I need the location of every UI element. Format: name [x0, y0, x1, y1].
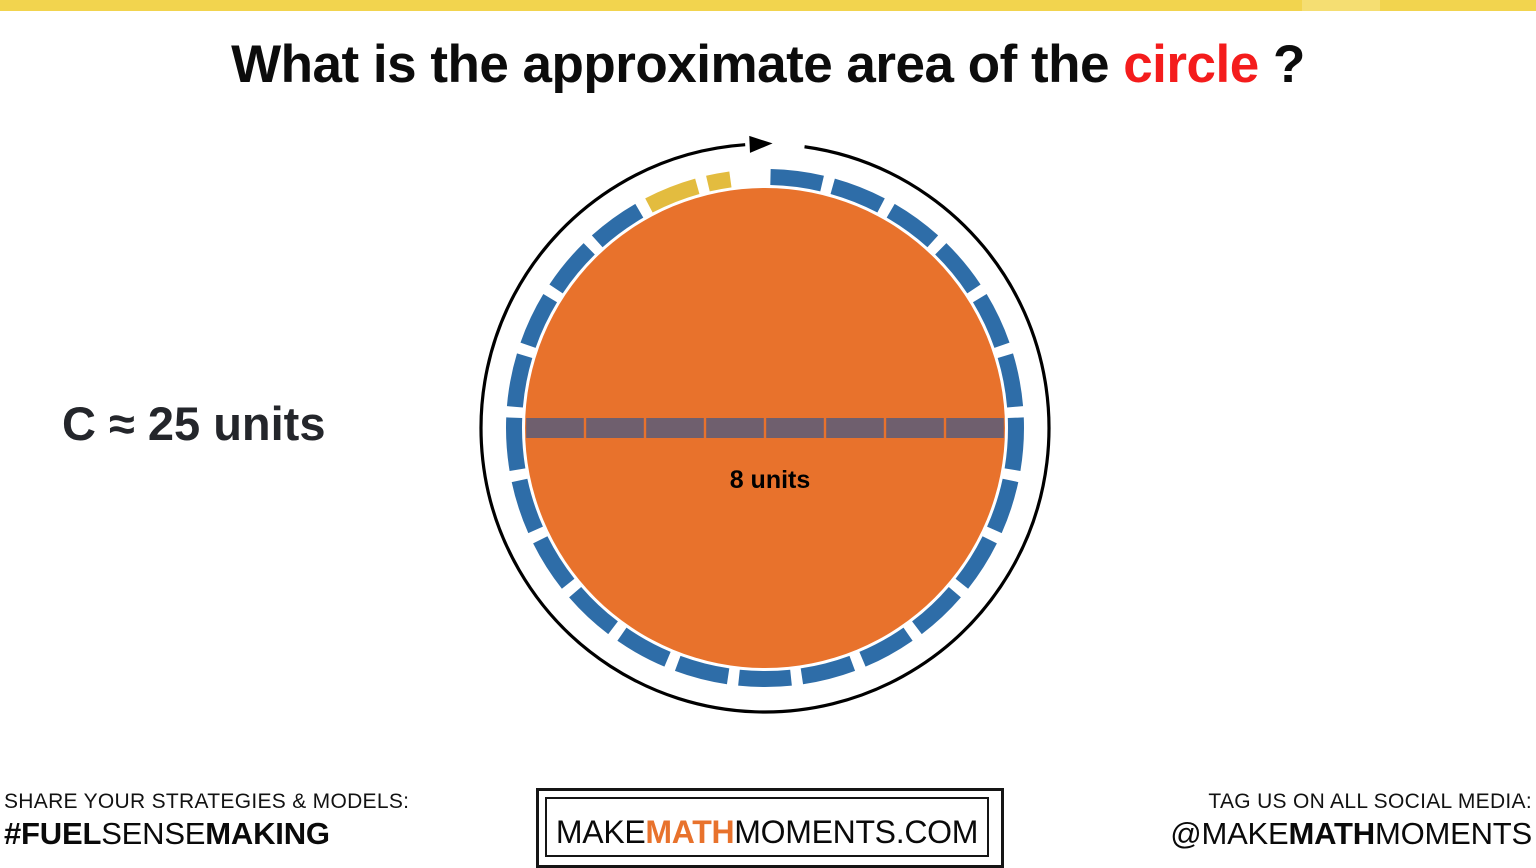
diameter-unit-segment: [886, 418, 944, 438]
circumference-unit-tile: [770, 169, 824, 191]
text-run-0: MAKE: [556, 814, 646, 850]
title-prefix: What is the approximate area of the: [231, 35, 1123, 94]
text-run-2: MOMENTS.COM: [734, 814, 978, 850]
circumference-unit-tile-partial: [706, 171, 731, 191]
top-accent-bar-highlight: [1302, 0, 1380, 11]
diameter-unit-segment: [646, 418, 704, 438]
text-run-2: MOMENTS: [1375, 816, 1532, 851]
brand-logo: MAKEMATHMOMENTS.COM: [536, 788, 1000, 864]
logo-wordmark: MAKEMATHMOMENTS.COM: [536, 814, 998, 851]
text-run-3: MAKING: [205, 816, 330, 851]
circumference-unit-tile: [1005, 417, 1024, 471]
circumference-unit-tile: [738, 670, 792, 687]
diameter-unit-segment: [826, 418, 884, 438]
diameter-unit-segment: [586, 418, 644, 438]
text-run-0: @MAKE: [1170, 816, 1288, 851]
page-title: What is the approximate area of the circ…: [0, 34, 1536, 95]
diameter-unit-segment: [766, 418, 824, 438]
text-run-1: FUEL: [21, 816, 101, 851]
text-run-2: SENSE: [101, 816, 205, 851]
title-suffix: ?: [1259, 35, 1305, 94]
text-run-0: #: [4, 816, 21, 851]
circumference-annotation: C ≈ 25 units: [62, 396, 325, 451]
circle-diagram: 8 units: [470, 128, 1070, 728]
circumference-arrowhead: [749, 136, 772, 153]
title-accent-word: circle: [1123, 35, 1259, 94]
footer-social-block: TAG US ON ALL SOCIAL MEDIA: @MAKEMATHMOM…: [1170, 790, 1532, 852]
text-run-1: MATH: [1289, 816, 1375, 851]
footer-social-handle: @MAKEMATHMOMENTS: [1170, 816, 1532, 852]
footer-social-kicker: TAG US ON ALL SOCIAL MEDIA:: [1170, 790, 1532, 814]
footer-hashtag: #FUELSENSEMAKING: [4, 816, 409, 852]
diameter-unit-segment: [946, 418, 1004, 438]
circumference-unit-tile: [506, 417, 525, 471]
diameter-unit-segment: [526, 418, 584, 438]
text-run-1: MATH: [645, 814, 734, 850]
top-accent-bar: [0, 0, 1536, 11]
diameter-unit-segment: [706, 418, 764, 438]
circle-diagram-svg: [470, 128, 1070, 728]
footer-share-block: SHARE YOUR STRATEGIES & MODELS: #FUELSEN…: [4, 790, 409, 852]
footer-share-kicker: SHARE YOUR STRATEGIES & MODELS:: [4, 790, 409, 814]
